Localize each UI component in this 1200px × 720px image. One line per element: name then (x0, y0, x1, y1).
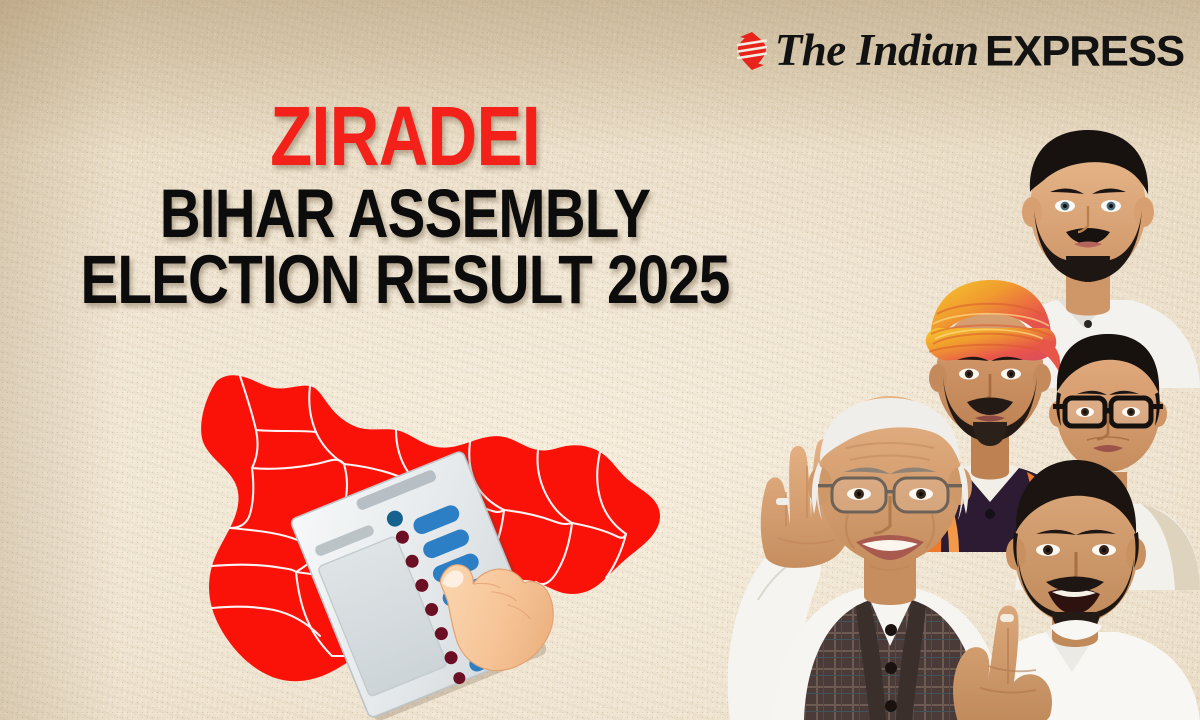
masthead-name-bold: EXPRESS (985, 29, 1184, 72)
masthead[interactable]: The Indian EXPRESS (735, 28, 1176, 73)
constituency-title: ZIRADEI (73, 96, 737, 177)
masthead-name-italic: The Indian (775, 28, 979, 73)
headline-line-3: ELECTION RESULT 2025 (73, 247, 737, 313)
headline-line-2: BIHAR ASSEMBLY (73, 181, 737, 247)
headline-block: ZIRADEI BIHAR ASSEMBLY ELECTION RESULT 2… (0, 96, 810, 313)
person-tejashwi-yadav (940, 466, 1200, 720)
election-result-poster: The Indian EXPRESS ZIRADEI BIHAR ASSEMBL… (0, 0, 1200, 720)
indian-express-logo-mark-icon (735, 31, 769, 71)
